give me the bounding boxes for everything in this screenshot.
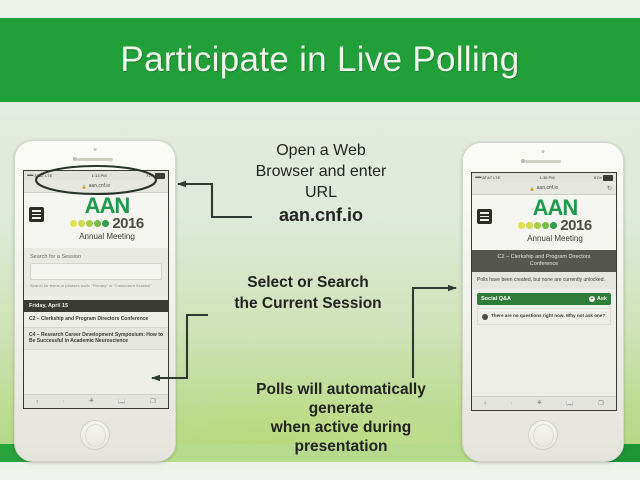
network-label: LTE — [493, 175, 500, 180]
ask-question-button[interactable]: + Ask — [589, 296, 607, 302]
proximity-sensor-icon — [542, 150, 545, 153]
aan-logo-header: AAN 2016 Annual Meeting — [472, 195, 616, 250]
network-label: LTE — [45, 173, 52, 178]
tabs-icon[interactable]: ❐ — [150, 398, 155, 405]
plus-icon: + — [589, 296, 595, 302]
tabs-icon[interactable]: ❐ — [598, 400, 603, 407]
aan-logo-header: AAN 2016 Annual Meeting — [24, 193, 168, 248]
hamburger-menu-icon[interactable] — [29, 207, 44, 222]
aan-wordmark: AAN — [498, 200, 612, 216]
signal-icon: ••••• — [475, 175, 481, 181]
phone-mockup-right: ••••• AT&T LTE 1:38 PM 61% 🔒 aan.cnf.io … — [462, 142, 624, 462]
phone-screen-left: ••••• AT&T LTE 1:13 PM 71% 🔒 aan.cnf.io — [23, 170, 169, 409]
annotation-line-1: Open a Web — [226, 140, 416, 161]
session-header-line1: C2 – Clerkship and Program Directors — [478, 254, 610, 261]
share-icon[interactable]: ⎈ — [89, 398, 94, 405]
annotation-line-2: the Current Session — [208, 293, 408, 314]
search-help-text: Search for terms or phrases such: "Plena… — [30, 283, 162, 289]
slide-canvas: Participate in Live Polling ••••• AT&T L… — [0, 0, 640, 480]
annotation-line-3: when active during — [232, 418, 450, 437]
annotation-open-browser: Open a Web Browser and enter URL aan.cnf… — [226, 140, 416, 226]
info-icon — [482, 314, 488, 320]
current-session-header: C2 – Clerkship and Program Directors Con… — [472, 250, 616, 272]
logo-year: 2016 — [112, 215, 143, 232]
back-icon[interactable]: ‹ — [484, 401, 486, 407]
status-bar: ••••• AT&T LTE 1:13 PM 71% — [24, 171, 168, 180]
earpiece-speaker — [525, 160, 561, 163]
social-qa-header: Social Q&A + Ask — [477, 293, 611, 305]
battery-percent-label: 61% — [594, 175, 602, 180]
browser-url-bar[interactable]: 🔒 aan.cnf.io ↻ — [472, 182, 616, 195]
share-icon[interactable]: ⎈ — [537, 400, 542, 407]
carrier-label: AT&T — [482, 175, 492, 180]
ask-label: Ask — [597, 296, 607, 302]
forward-icon[interactable]: › — [63, 399, 65, 405]
browser-url-bar[interactable]: 🔒 aan.cnf.io — [24, 180, 168, 193]
slide-footer — [0, 470, 640, 480]
front-camera-icon — [73, 157, 77, 161]
clock-label: 1:38 PM — [540, 175, 555, 180]
session-header-line2: Conference — [478, 261, 610, 268]
battery-percent-label: 71% — [146, 173, 154, 178]
session-list-item[interactable]: C4 – Research Career Development Symposi… — [24, 328, 168, 350]
annotation-select-session: Select or Search the Current Session — [208, 272, 408, 314]
browser-toolbar: ‹ › ⎈ 📖 ❐ — [24, 394, 168, 408]
logo-subtitle: Annual Meeting — [498, 234, 612, 243]
logo-dot — [70, 220, 77, 227]
status-left: ••••• AT&T LTE — [27, 173, 52, 179]
battery-icon — [155, 173, 165, 179]
home-button[interactable] — [80, 420, 110, 450]
clock-label: 1:13 PM — [92, 173, 107, 178]
logo-dot — [86, 220, 93, 227]
proximity-sensor-icon — [94, 148, 97, 151]
annotation-url-value: aan.cnf.io — [226, 205, 416, 226]
earpiece-speaker — [77, 158, 113, 161]
back-icon[interactable]: ‹ — [36, 399, 38, 405]
social-qa-empty-text: There are no questions right now. Why no… — [491, 313, 605, 320]
logo-dot — [542, 222, 549, 229]
status-left: ••••• AT&T LTE — [475, 175, 500, 181]
logo-subtitle: Annual Meeting — [50, 232, 164, 241]
social-qa-title: Social Q&A — [481, 296, 511, 302]
hamburger-menu-icon[interactable] — [477, 209, 492, 224]
lock-icon: 🔒 — [82, 184, 87, 189]
home-button[interactable] — [528, 420, 558, 450]
day-header: Friday, April 15 — [24, 300, 168, 312]
logo-year: 2016 — [560, 217, 591, 234]
logo-dot — [550, 222, 557, 229]
annotation-line-1: Polls will automatically — [232, 380, 450, 399]
status-right: 71% — [146, 173, 165, 179]
logo-dot — [102, 220, 109, 227]
bookmarks-icon[interactable]: 📖 — [118, 398, 125, 405]
logo-dot — [518, 222, 525, 229]
phone-earpiece-area — [463, 143, 623, 173]
search-section: Search for a Session Search for terms or… — [24, 248, 168, 296]
annotation-line-2: Browser and enter — [226, 161, 416, 182]
logo-dot — [526, 222, 533, 229]
status-bar: ••••• AT&T LTE 1:38 PM 61% — [472, 173, 616, 182]
status-right: 61% — [594, 175, 613, 181]
battery-icon — [603, 175, 613, 181]
reload-icon[interactable]: ↻ — [607, 185, 612, 192]
url-text: aan.cnf.io — [537, 185, 559, 191]
annotation-line-1: Select or Search — [208, 272, 408, 293]
social-qa-empty-state: There are no questions right now. Why no… — [477, 308, 611, 325]
logo-wrap: AAN 2016 Annual Meeting — [498, 200, 612, 243]
poll-status-message: Polls have been created, but none are cu… — [472, 272, 616, 289]
logo-wrap: AAN 2016 Annual Meeting — [50, 198, 164, 241]
logo-dot — [78, 220, 85, 227]
lock-icon: 🔒 — [530, 186, 535, 191]
annotation-line-4: presentation — [232, 437, 450, 456]
phone-screen-right: ••••• AT&T LTE 1:38 PM 61% 🔒 aan.cnf.io … — [471, 172, 617, 411]
phone-earpiece-area — [15, 141, 175, 171]
annotation-line-2: generate — [232, 399, 450, 418]
search-input[interactable] — [30, 263, 162, 280]
bookmarks-icon[interactable]: 📖 — [566, 400, 573, 407]
annotation-polls-generate: Polls will automatically generate when a… — [232, 380, 450, 456]
logo-dot — [94, 220, 101, 227]
phone-mockup-left: ••••• AT&T LTE 1:13 PM 71% 🔒 aan.cnf.io — [14, 140, 176, 462]
browser-toolbar: ‹ › ⎈ 📖 ❐ — [472, 396, 616, 410]
slide-banner: Participate in Live Polling — [0, 18, 640, 102]
logo-dot — [534, 222, 541, 229]
search-label: Search for a Session — [30, 254, 162, 260]
front-camera-icon — [521, 159, 525, 163]
session-list-item[interactable]: C2 – Clerkship and Program Directors Con… — [24, 312, 168, 328]
carrier-label: AT&T — [34, 173, 44, 178]
url-text: aan.cnf.io — [89, 183, 111, 189]
signal-icon: ••••• — [27, 173, 33, 179]
aan-wordmark: AAN — [50, 198, 164, 214]
annotation-line-3: URL — [226, 182, 416, 203]
forward-icon[interactable]: › — [511, 401, 513, 407]
page-title: Participate in Live Polling — [120, 40, 519, 80]
